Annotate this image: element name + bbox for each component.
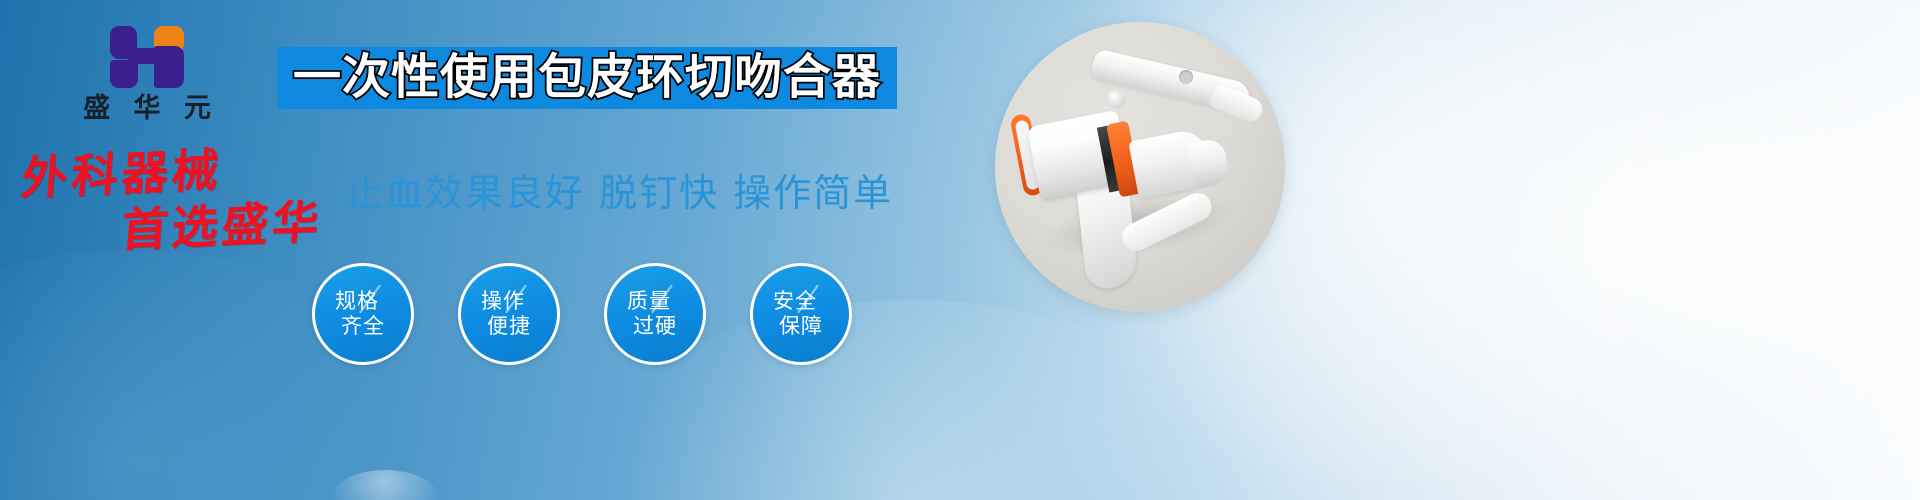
badge-label-bottom: 过硬 [633, 314, 677, 339]
stapler-joint [1107, 90, 1125, 108]
calligraphy-slogan: 外科器械 首选盛华 [22, 148, 362, 248]
calligraphy-line-2: 首选盛华 [120, 197, 365, 253]
badge-label-bottom: 齐全 [341, 314, 385, 339]
brand-logo[interactable]: 盛 华 元 [62, 26, 232, 124]
feature-badge[interactable]: 安全 保障 [750, 263, 852, 365]
feature-badge[interactable]: 操作 便捷 [458, 263, 560, 365]
feature-badge[interactable]: 质量 过硬 [604, 263, 706, 365]
bottom-arc-decoration [330, 470, 440, 500]
stapler-pivot-hole [1179, 70, 1193, 84]
logo-mark-icon [110, 26, 184, 88]
promotional-banner: 盛 华 元 外科器械 首选盛华 一次性使用包皮环切吻合器 止血效果良好 脱钉快 … [0, 0, 1920, 500]
product-subtitle: 止血效果良好 脱钉快 操作简单 [345, 162, 893, 217]
badge-label-bottom: 便捷 [487, 314, 531, 339]
badge-label-bottom: 保障 [779, 314, 823, 339]
page-title: 一次性使用包皮环切吻合器 [293, 53, 881, 101]
product-photo [995, 22, 1285, 312]
company-name: 盛 华 元 [62, 94, 232, 124]
feature-badge[interactable]: 规格 齐全 [312, 263, 414, 365]
product-title-banner: 一次性使用包皮环切吻合器 [277, 47, 897, 109]
stapler-tip [1187, 137, 1231, 189]
feature-badge-list: 规格 齐全 操作 便捷 质量 过硬 安全 保障 [312, 263, 852, 365]
calligraphy-line-1: 外科器械 [19, 141, 364, 202]
